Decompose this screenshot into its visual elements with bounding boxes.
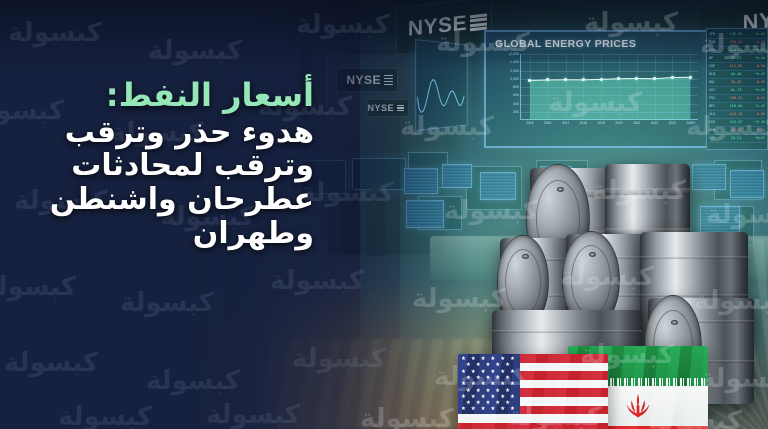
headline-line-4: عطرحان واشنطن xyxy=(0,183,314,217)
headline-line-1: أسعار النفط: xyxy=(0,78,314,114)
top-vignette xyxy=(0,0,768,70)
headline-line-3: وترقب لمحادثات xyxy=(0,149,314,183)
news-card: NYSE NYSE NYSE NY GLOBAL ENERGY PRICES 2… xyxy=(0,0,768,429)
headline-line-2: هدوء حذر وترقب xyxy=(0,116,314,150)
usa-flag-wave-shading xyxy=(458,354,608,429)
flags-group: ★★★★★★★★★★★★★★★★★★★★★★★★★★★★★★★★★★★★★★★★… xyxy=(458,346,754,429)
headline-block: أسعار النفط: هدوء حذر وترقب وترقب لمحادث… xyxy=(0,78,330,250)
oil-barrels-group: ★★★★★★★★★★★★★★★★★★★★★★★★★★★★★★★★★★★★★★★★… xyxy=(400,150,768,429)
usa-flag: ★★★★★★★★★★★★★★★★★★★★★★★★★★★★★★★★★★★★★★★★… xyxy=(458,354,608,429)
headline-line-5: وطهران xyxy=(0,217,314,251)
